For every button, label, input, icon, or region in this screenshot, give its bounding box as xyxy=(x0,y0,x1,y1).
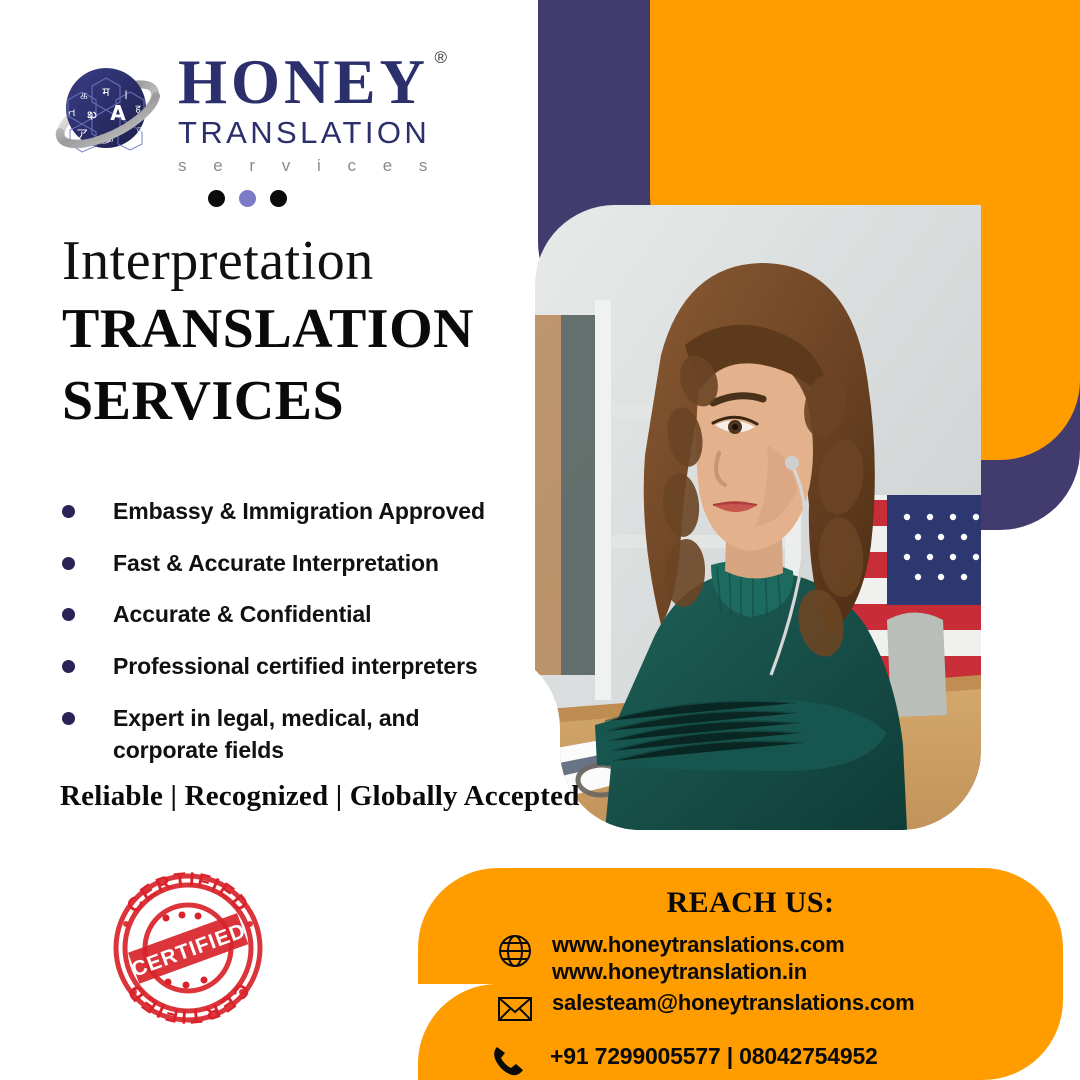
brand-logo: க म ا ह ત ఖ A ಡ ア ணு HONEY ® T xyxy=(52,48,438,176)
website-line-2[interactable]: www.honeytranslation.in xyxy=(552,959,807,984)
contact-row-website: www.honeytranslations.com www.honeytrans… xyxy=(496,932,844,986)
contact-email-value[interactable]: salesteam@honeytranslations.com xyxy=(552,990,915,1017)
list-item-label: Embassy & Immigration Approved xyxy=(113,496,485,528)
bullet-icon xyxy=(62,505,75,518)
contact-phone-values[interactable]: +91 7299005577 | 08042754952 xyxy=(550,1042,878,1070)
bullet-icon xyxy=(62,660,75,673)
headline-bold-line-2: SERVICES xyxy=(62,368,532,434)
logo-tagline: s e r v i c e s xyxy=(178,156,438,176)
contact-row-email: salesteam@honeytranslations.com xyxy=(496,990,915,1028)
svg-text:ત: ત xyxy=(68,106,75,119)
contact-panel: REACH US: www.honeytranslations.com www.… xyxy=(418,868,1063,1080)
list-item-label: Professional certified interpreters xyxy=(113,651,478,683)
svg-text:க: க xyxy=(80,88,88,102)
list-item: Fast & Accurate Interpretation xyxy=(56,548,526,580)
headline-block: Interpretation TRANSLATION SERVICES xyxy=(62,232,532,434)
hero-photo xyxy=(535,205,981,830)
list-item-label: Fast & Accurate Interpretation xyxy=(113,548,439,580)
bullet-icon xyxy=(62,608,75,621)
photo-content xyxy=(535,205,981,830)
list-item-label: Accurate & Confidential xyxy=(113,599,371,631)
dot-1 xyxy=(208,190,225,207)
dot-separator xyxy=(208,190,287,207)
phone-icon xyxy=(490,1042,528,1080)
bullet-icon xyxy=(62,712,75,725)
svg-text:ア: ア xyxy=(76,127,88,141)
svg-text:ఖ: ఖ xyxy=(87,107,97,122)
contact-row-phone: +91 7299005577 | 08042754952 xyxy=(490,1042,878,1080)
globe-languages-icon: க म ا ह ત ఖ A ಡ ア ணு xyxy=(52,56,164,168)
list-item: Expert in legal, medical, and corporate … xyxy=(56,703,526,766)
svg-text:ಡ: ಡ xyxy=(137,124,143,135)
logo-brand-name: HONEY ® xyxy=(178,52,429,112)
dot-3 xyxy=(270,190,287,207)
bullet-icon xyxy=(62,557,75,570)
list-item-label: Expert in legal, medical, and corporate … xyxy=(113,703,526,766)
envelope-icon xyxy=(496,990,534,1028)
list-item: Embassy & Immigration Approved xyxy=(56,496,526,528)
poster-canvas: க म ا ह ત ఖ A ಡ ア ணு HONEY ® T xyxy=(0,0,1080,1080)
svg-text:A: A xyxy=(110,101,126,125)
globe-icon xyxy=(496,932,534,970)
logo-brand-text: HONEY xyxy=(178,47,429,117)
headline-script-line: Interpretation xyxy=(62,232,532,290)
svg-text:म: म xyxy=(102,85,110,99)
trust-tagline: Reliable | Recognized | Globally Accepte… xyxy=(60,780,580,813)
contact-website-values[interactable]: www.honeytranslations.com www.honeytrans… xyxy=(552,932,844,986)
hero-photo-svg xyxy=(535,205,981,830)
registered-mark-icon: ® xyxy=(435,50,452,66)
list-item: Professional certified interpreters xyxy=(56,651,526,683)
dot-2-accent xyxy=(239,190,256,207)
logo-subline: TRANSLATION xyxy=(178,114,438,151)
website-line-1[interactable]: www.honeytranslations.com xyxy=(552,932,844,957)
headline-bold-line-1: TRANSLATION xyxy=(62,296,532,362)
certified-stamp-icon: CERTIFIED CERTIFIED CERTIFIED xyxy=(104,866,272,1026)
feature-list: Embassy & Immigration Approved Fast & Ac… xyxy=(56,496,526,786)
list-item: Accurate & Confidential xyxy=(56,599,526,631)
contact-title: REACH US: xyxy=(418,886,1063,920)
